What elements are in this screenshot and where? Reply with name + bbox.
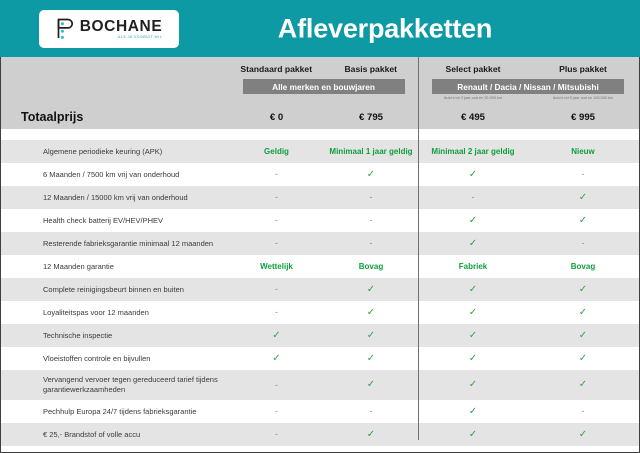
- check-icon: ✓: [468, 239, 478, 249]
- cell-standaard: -: [229, 232, 324, 255]
- value-none: -: [275, 239, 278, 248]
- cell-plus: ✓: [528, 324, 638, 347]
- check-icon: ✓: [366, 354, 376, 364]
- check-icon: ✓: [366, 170, 376, 180]
- check-icon: ✓: [468, 216, 478, 226]
- cell-plus: Nieuw: [528, 140, 638, 163]
- group-banner-right: Renault / Dacia / Nissan / Mitsubishi: [432, 79, 624, 94]
- value-none: -: [275, 430, 278, 439]
- cell-basis: Minimaal 1 jaar geldig: [324, 140, 418, 163]
- feature-label: Health check batterij EV/HEV/PHEV: [1, 209, 229, 232]
- value-none: -: [582, 170, 585, 179]
- column-header-plus: Plus pakket: [528, 64, 638, 74]
- check-icon: ✓: [578, 430, 588, 440]
- check-icon: ✓: [578, 308, 588, 318]
- check-icon: ✓: [468, 331, 478, 341]
- value-text: Minimaal 1 jaar geldig: [329, 148, 412, 156]
- table-row: Vervangend vervoer tegen gereduceerd tar…: [1, 370, 639, 400]
- value-none: -: [275, 193, 278, 202]
- cell-basis: ✓: [324, 278, 418, 301]
- table-header: Standaard pakket Basis pakket Alle merke…: [1, 57, 639, 105]
- cell-basis: ✓: [324, 301, 418, 324]
- value-none: -: [582, 407, 585, 416]
- check-icon: ✓: [366, 430, 376, 440]
- total-price-plus: € 995: [571, 112, 595, 123]
- cell-basis: ✓: [324, 324, 418, 347]
- cell-standaard: Wettelijk: [229, 255, 324, 278]
- cell-select: ✓: [418, 232, 528, 255]
- cell-basis: -: [324, 232, 418, 255]
- cell-select: ✓: [418, 278, 528, 301]
- table-row: Loyaliteitspas voor 12 maanden-✓✓✓: [1, 301, 639, 324]
- value-none: -: [275, 216, 278, 225]
- table-footer-spacer: [1, 446, 639, 453]
- table-row: Resterende fabrieksgarantie minimaal 12 …: [1, 232, 639, 255]
- column-header-standaard: Standaard pakket: [229, 64, 324, 74]
- feature-label: € 25,- Brandstof of volle accu: [1, 423, 229, 446]
- cell-standaard: ✓: [229, 324, 324, 347]
- total-price-basis: € 795: [359, 112, 383, 123]
- cell-select: ✓: [418, 400, 528, 423]
- table-row: € 25,- Brandstof of volle accu-✓✓✓: [1, 423, 639, 446]
- header-spacer: [1, 129, 639, 140]
- value-text: Geldig: [264, 148, 289, 156]
- cell-plus: ✓: [528, 301, 638, 324]
- cell-standaard: -: [229, 370, 324, 400]
- cell-select: Minimaal 2 jaar geldig: [418, 140, 528, 163]
- total-price-standaard: € 0: [270, 112, 283, 123]
- cell-standaard: -: [229, 400, 324, 423]
- column-header-basis: Basis pakket: [324, 64, 419, 74]
- table-row: 12 Maanden / 15000 km vrij van onderhoud…: [1, 186, 639, 209]
- cell-select: ✓: [418, 301, 528, 324]
- cell-plus: ✓: [528, 209, 638, 232]
- cell-select: ✓: [418, 423, 528, 446]
- table-row: Technische inspectie✓✓✓✓: [1, 324, 639, 347]
- value-none: -: [275, 170, 278, 179]
- check-icon: ✓: [366, 285, 376, 295]
- page-header: BOCHANE ALS JE VOORUIT WIL Afleverpakket…: [0, 0, 640, 57]
- cell-standaard: ✓: [229, 347, 324, 370]
- cell-plus: -: [528, 232, 638, 255]
- feature-label: Algemene periodieke keuring (APK): [1, 140, 229, 163]
- column-header-select: Select pakket: [418, 64, 528, 74]
- cell-standaard: Geldig: [229, 140, 324, 163]
- page-title: Afleverpakketten: [0, 13, 640, 44]
- cell-select: ✓: [418, 347, 528, 370]
- total-price-select: € 495: [461, 112, 485, 123]
- cell-standaard: -: [229, 301, 324, 324]
- cell-select: ✓: [418, 209, 528, 232]
- check-icon: ✓: [468, 430, 478, 440]
- check-icon: ✓: [578, 193, 588, 203]
- cell-basis: Bovag: [324, 255, 418, 278]
- total-price-label: Totaalprijs: [1, 105, 229, 129]
- value-none: -: [275, 285, 278, 294]
- check-icon: ✓: [468, 407, 478, 417]
- cell-standaard: -: [229, 423, 324, 446]
- value-text: Minimaal 2 jaar geldig: [431, 148, 514, 156]
- check-icon: ✓: [578, 354, 588, 364]
- group-divider: [418, 57, 419, 440]
- cell-basis: ✓: [324, 163, 418, 186]
- feature-label: 6 Maanden / 7500 km vrij van onderhoud: [1, 163, 229, 186]
- cell-standaard: -: [229, 163, 324, 186]
- cell-basis: ✓: [324, 370, 418, 400]
- table-row: Pechhulp Europa 24/7 tijdens fabrieksgar…: [1, 400, 639, 423]
- table-row: Health check batterij EV/HEV/PHEV--✓✓: [1, 209, 639, 232]
- value-none: -: [370, 193, 373, 202]
- value-none: -: [370, 239, 373, 248]
- cell-select: Fabriek: [418, 255, 528, 278]
- value-none: -: [370, 216, 373, 225]
- cell-plus: ✓: [528, 186, 638, 209]
- feature-label: Resterende fabrieksgarantie minimaal 12 …: [1, 232, 229, 255]
- check-icon: ✓: [272, 354, 282, 364]
- table-row: 12 Maanden garantieWettelijkBovagFabriek…: [1, 255, 639, 278]
- check-icon: ✓: [578, 380, 588, 390]
- value-none: -: [275, 407, 278, 416]
- cell-plus: Bovag: [528, 255, 638, 278]
- value-none: -: [275, 381, 278, 390]
- check-icon: ✓: [578, 331, 588, 341]
- cell-standaard: -: [229, 209, 324, 232]
- cell-basis: -: [324, 209, 418, 232]
- package-group-left: Standaard pakket Basis pakket Alle merke…: [229, 57, 418, 105]
- check-icon: ✓: [366, 331, 376, 341]
- cell-basis: ✓: [324, 423, 418, 446]
- subnote-select: Auto's tot 3 jaar oud en 20.000 km: [418, 96, 528, 100]
- check-icon: ✓: [468, 380, 478, 390]
- cell-basis: ✓: [324, 347, 418, 370]
- value-text: Wettelijk: [260, 263, 293, 271]
- comparison-table: Standaard pakket Basis pakket Alle merke…: [0, 57, 640, 453]
- feature-label: Technische inspectie: [1, 324, 229, 347]
- feature-label: Loyaliteitspas voor 12 maanden: [1, 301, 229, 324]
- value-none: -: [582, 239, 585, 248]
- feature-rows: Algemene periodieke keuring (APK)GeldigM…: [1, 140, 639, 446]
- check-icon: ✓: [468, 354, 478, 364]
- value-text: Nieuw: [571, 148, 595, 156]
- feature-label: Complete reinigingsbeurt binnen en buite…: [1, 278, 229, 301]
- total-price-row: Totaalprijs € 0 € 795 € 495 € 995: [1, 105, 639, 129]
- cell-plus: ✓: [528, 423, 638, 446]
- cell-select: -: [418, 186, 528, 209]
- cell-select: ✓: [418, 324, 528, 347]
- table-row: Algemene periodieke keuring (APK)GeldigM…: [1, 140, 639, 163]
- cell-basis: -: [324, 400, 418, 423]
- value-none: -: [472, 193, 475, 202]
- cell-plus: -: [528, 400, 638, 423]
- value-text: Bovag: [571, 263, 595, 271]
- check-icon: ✓: [578, 285, 588, 295]
- value-none: -: [275, 308, 278, 317]
- cell-plus: ✓: [528, 370, 638, 400]
- check-icon: ✓: [578, 216, 588, 226]
- cell-standaard: -: [229, 278, 324, 301]
- feature-label: Vervangend vervoer tegen gereduceerd tar…: [1, 370, 229, 400]
- cell-plus: ✓: [528, 347, 638, 370]
- table-row: 6 Maanden / 7500 km vrij van onderhoud-✓…: [1, 163, 639, 186]
- feature-label: 12 Maanden / 15000 km vrij van onderhoud: [1, 186, 229, 209]
- cell-select: ✓: [418, 370, 528, 400]
- cell-plus: ✓: [528, 278, 638, 301]
- check-icon: ✓: [468, 170, 478, 180]
- group-banner-left: Alle merken en bouwjaren: [243, 79, 405, 94]
- check-icon: ✓: [366, 380, 376, 390]
- value-text: Bovag: [359, 263, 383, 271]
- feature-label: Vloeistoffen controle en bijvullen: [1, 347, 229, 370]
- check-icon: ✓: [468, 308, 478, 318]
- cell-plus: -: [528, 163, 638, 186]
- feature-label: 12 Maanden garantie: [1, 255, 229, 278]
- table-row: Vloeistoffen controle en bijvullen✓✓✓✓: [1, 347, 639, 370]
- table-row: Complete reinigingsbeurt binnen en buite…: [1, 278, 639, 301]
- package-group-right: Select pakket Plus pakket Renault / Daci…: [418, 57, 638, 105]
- value-text: Fabriek: [459, 263, 487, 271]
- cell-basis: -: [324, 186, 418, 209]
- check-icon: ✓: [468, 285, 478, 295]
- subnote-plus: Auto's tot 5 jaar oud en 100.000 km: [528, 96, 638, 100]
- check-icon: ✓: [366, 308, 376, 318]
- value-none: -: [370, 407, 373, 416]
- check-icon: ✓: [272, 331, 282, 341]
- cell-select: ✓: [418, 163, 528, 186]
- cell-standaard: -: [229, 186, 324, 209]
- feature-label: Pechhulp Europa 24/7 tijdens fabrieksgar…: [1, 400, 229, 423]
- afleverpakketten-page: BOCHANE ALS JE VOORUIT WIL Afleverpakket…: [0, 0, 640, 453]
